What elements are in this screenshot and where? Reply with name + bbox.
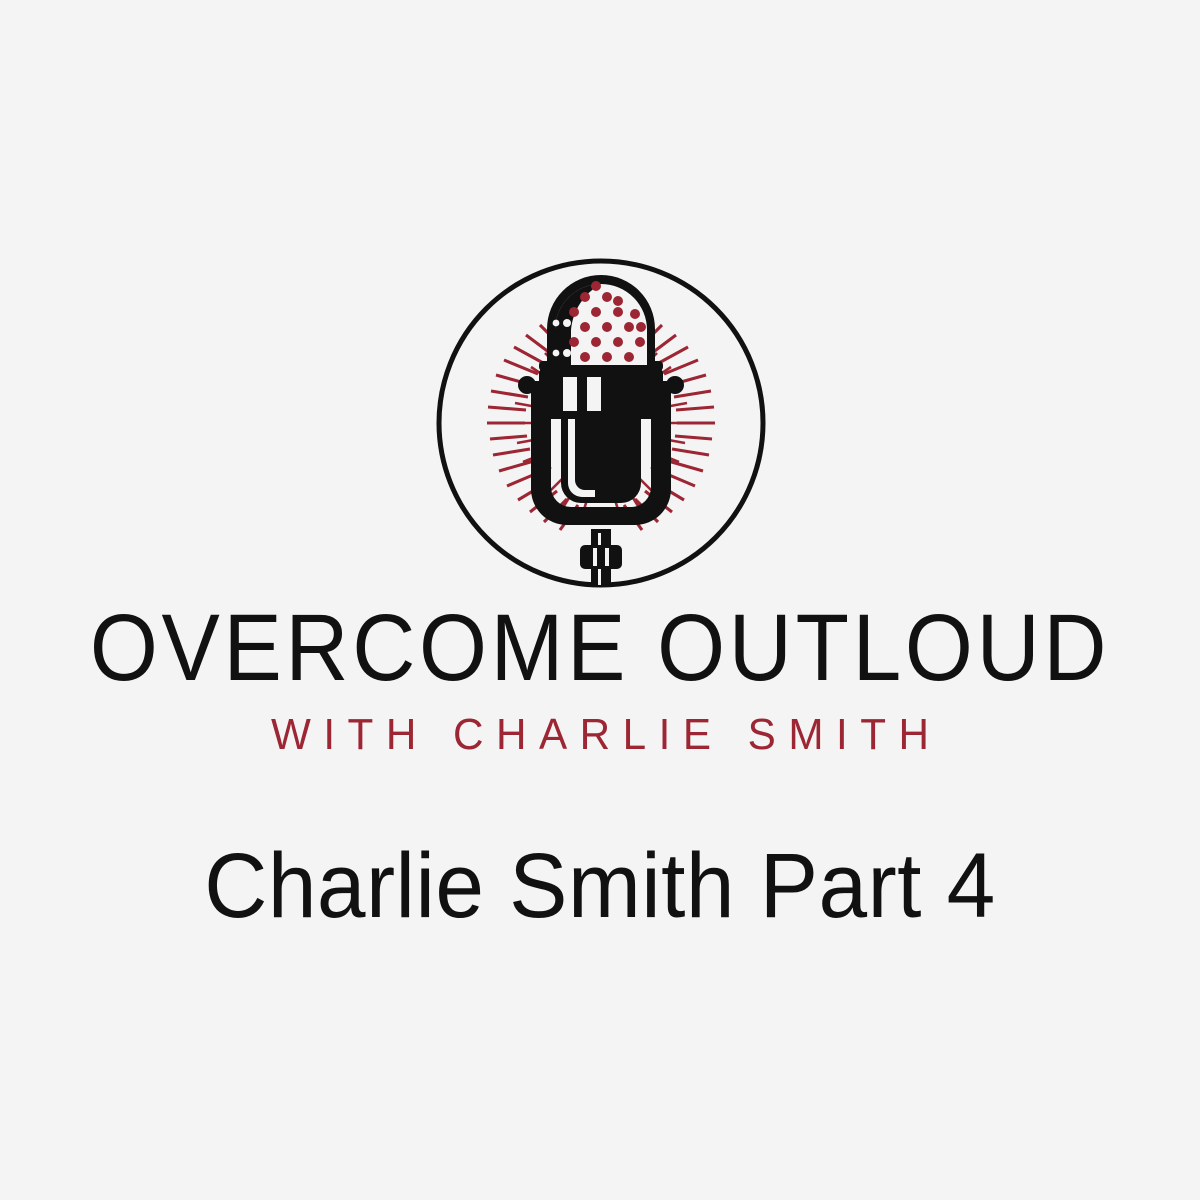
branding-block: OVERCOME OUTLOUD WITH CHARLIE SMITH — [0, 600, 1200, 758]
show-subtitle: WITH CHARLIE SMITH — [24, 712, 1176, 758]
episode-title: Charlie Smith Part 4 — [30, 836, 1170, 936]
microphone-graphic — [518, 275, 684, 589]
show-title: OVERCOME OUTLOUD — [48, 600, 1152, 696]
show-logo — [435, 257, 767, 589]
podcast-cover-art: OVERCOME OUTLOUD WITH CHARLIE SMITH Char… — [0, 0, 1200, 1200]
